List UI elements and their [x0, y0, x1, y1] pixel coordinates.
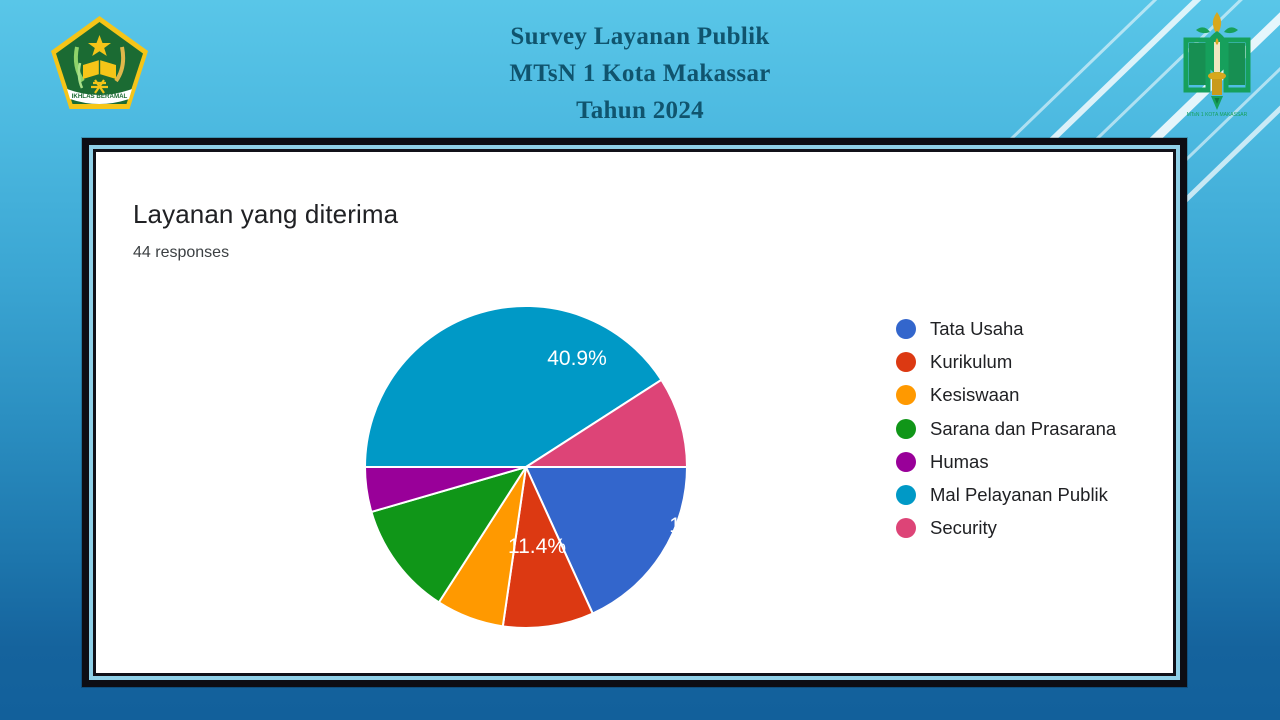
legend-item[interactable]: Tata Usaha: [896, 312, 1116, 345]
page-title: Survey Layanan Publik MTsN 1 Kota Makass…: [0, 18, 1280, 129]
legend-label: Sarana dan Prasarana: [930, 418, 1116, 440]
legend-color-dot: [896, 452, 916, 472]
pie-chart-area: 40.9%9.1%18.2%11.4% Tata UsahaKurikulumK…: [96, 282, 1173, 672]
pie-slice-percentage: 9.1%: [691, 427, 739, 451]
legend-label: Kesiswaan: [930, 384, 1019, 406]
legend-item[interactable]: Humas: [896, 445, 1116, 478]
chart-legend: Tata UsahaKurikulumKesiswaanSarana dan P…: [896, 312, 1116, 545]
legend-label: Kurikulum: [930, 351, 1012, 373]
content-frame: Layanan yang diterima 44 responses 40.9%…: [82, 138, 1187, 687]
legend-color-dot: [896, 518, 916, 538]
legend-item[interactable]: Sarana dan Prasarana: [896, 412, 1116, 445]
title-line-2: MTsN 1 Kota Makassar: [0, 55, 1280, 92]
legend-color-dot: [896, 485, 916, 505]
frame-inner-bevel: Layanan yang diterima 44 responses 40.9%…: [89, 145, 1180, 680]
legend-item[interactable]: Kurikulum: [896, 345, 1116, 378]
chart-card: Layanan yang diterima 44 responses 40.9%…: [93, 149, 1176, 676]
legend-label: Tata Usaha: [930, 318, 1024, 340]
question-title: Layanan yang diterima: [133, 199, 398, 230]
legend-label: Mal Pelayanan Publik: [930, 484, 1108, 506]
legend-item[interactable]: Security: [896, 512, 1116, 545]
title-line-3: Tahun 2024: [0, 92, 1280, 129]
legend-item[interactable]: Kesiswaan: [896, 379, 1116, 412]
legend-color-dot: [896, 319, 916, 339]
legend-item[interactable]: Mal Pelayanan Publik: [896, 478, 1116, 511]
legend-label: Humas: [930, 451, 989, 473]
legend-label: Security: [930, 517, 997, 539]
pie-chart: [361, 302, 691, 632]
response-count: 44 responses: [133, 244, 229, 262]
legend-color-dot: [896, 352, 916, 372]
legend-color-dot: [896, 419, 916, 439]
title-line-1: Survey Layanan Publik: [0, 18, 1280, 55]
legend-color-dot: [896, 385, 916, 405]
